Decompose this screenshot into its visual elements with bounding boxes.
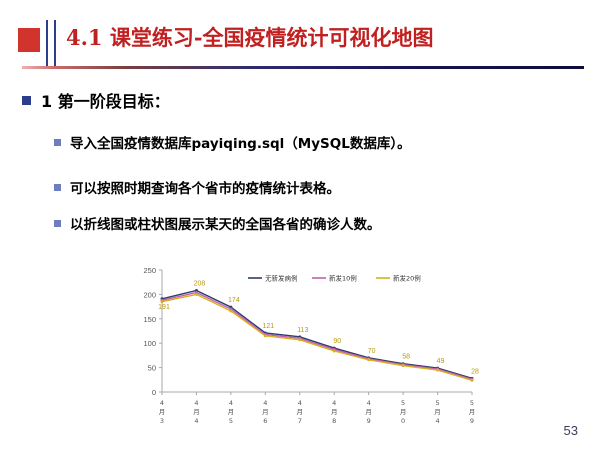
x-tick-label: 9 [367, 417, 371, 425]
title-underline-rule [22, 66, 584, 69]
legend-label-2: 新发20例 [393, 274, 421, 283]
epidemic-line-chart: 0501001502002504月34月44月54月64月74月84月95月05… [120, 256, 488, 434]
x-tick-label: 4 [367, 399, 371, 407]
series-point-2 [333, 350, 336, 353]
outline-item-1-label: 导入全国疫情数据库payiqing.sql（MySQL数据库）。 [70, 132, 411, 152]
x-tick-label: 4 [263, 399, 267, 407]
line-chart-svg: 0501001502002504月34月44月54月64月74月84月95月05… [120, 256, 488, 434]
x-tick-label: 月 [297, 408, 304, 416]
x-tick-label: 月 [159, 408, 166, 416]
data-label: 191 [158, 304, 170, 311]
bullet-square-icon [22, 96, 31, 105]
series-point-2 [229, 309, 232, 312]
series-point-2 [195, 293, 198, 296]
x-tick-label: 月 [434, 408, 441, 416]
series-point-2 [298, 338, 301, 341]
series-point-2 [161, 300, 164, 303]
series-line-0 [162, 290, 472, 378]
slide-canvas: 4.1 课堂练习-全国疫情统计可视化地图 1 第一阶段目标： 导入全国疫情数据库… [0, 0, 600, 450]
data-label: 90 [333, 338, 341, 345]
red-square-decor [18, 28, 40, 52]
outline-level1-label: 1 第一阶段目标： [41, 88, 170, 112]
outline-level1-item: 1 第一阶段目标： [22, 88, 170, 112]
outline-item-3: 以折线图或柱状图展示某天的全国各省的确诊人数。 [54, 213, 381, 233]
x-tick-label: 6 [263, 417, 267, 425]
x-tick-label: 5 [435, 399, 439, 407]
x-tick-label: 7 [298, 417, 302, 425]
outline-item-1: 导入全国疫情数据库payiqing.sql（MySQL数据库）。 [54, 132, 411, 152]
data-label: 121 [262, 323, 274, 330]
legend-label-1: 新发10例 [329, 274, 357, 283]
data-label: 70 [368, 348, 376, 355]
bullet-square-small-icon [54, 220, 61, 227]
x-tick-label: 4 [194, 399, 198, 407]
outline-item-2-label: 可以按照时期查询各个省市的疫情统计表格。 [70, 177, 340, 197]
y-tick-label: 150 [143, 315, 156, 324]
series-point-2 [367, 358, 370, 361]
data-label: 58 [402, 354, 410, 361]
y-tick-label: 200 [143, 290, 156, 299]
bullet-square-small-icon [54, 139, 61, 146]
x-tick-label: 4 [298, 399, 302, 407]
y-tick-label: 0 [152, 388, 156, 397]
x-tick-label: 月 [262, 408, 269, 416]
y-tick-label: 100 [143, 339, 156, 348]
x-tick-label: 月 [331, 408, 338, 416]
x-tick-label: 4 [160, 399, 164, 407]
series-point-2 [436, 369, 439, 372]
x-tick-label: 月 [469, 408, 476, 416]
x-tick-label: 4 [435, 417, 439, 425]
x-tick-label: 9 [470, 417, 474, 425]
x-tick-label: 3 [160, 417, 164, 425]
data-label: 49 [437, 358, 445, 365]
x-tick-label: 4 [332, 399, 336, 407]
data-label: 174 [228, 297, 240, 304]
x-tick-label: 月 [365, 408, 372, 416]
series-point-2 [471, 379, 474, 382]
title-decoration [18, 20, 66, 66]
x-tick-label: 0 [401, 417, 405, 425]
data-label: 113 [297, 327, 308, 334]
x-tick-label: 5 [470, 399, 474, 407]
x-tick-label: 8 [332, 417, 336, 425]
y-tick-label: 250 [143, 266, 156, 275]
y-tick-label: 50 [148, 364, 156, 373]
series-point-2 [402, 364, 405, 367]
x-tick-label: 5 [229, 417, 233, 425]
x-tick-label: 月 [228, 408, 235, 416]
page-number: 53 [564, 423, 578, 438]
series-point-2 [264, 334, 267, 337]
data-label: 208 [194, 280, 206, 287]
x-tick-label: 月 [400, 408, 407, 416]
bullet-square-small-icon [54, 184, 61, 191]
x-tick-label: 月 [193, 408, 200, 416]
data-label: 28 [471, 368, 479, 375]
vertical-line-decor-2 [54, 20, 56, 66]
x-tick-label: 4 [194, 417, 198, 425]
slide-title: 4.1 课堂练习-全国疫情统计可视化地图 [66, 22, 434, 52]
outline-item-2: 可以按照时期查询各个省市的疫情统计表格。 [54, 177, 340, 197]
x-tick-label: 5 [401, 399, 405, 407]
outline-item-3-label: 以折线图或柱状图展示某天的全国各省的确诊人数。 [70, 213, 381, 233]
legend-label-0: 无新发病例 [265, 274, 298, 283]
x-tick-label: 4 [229, 399, 233, 407]
vertical-line-decor-1 [46, 20, 48, 66]
